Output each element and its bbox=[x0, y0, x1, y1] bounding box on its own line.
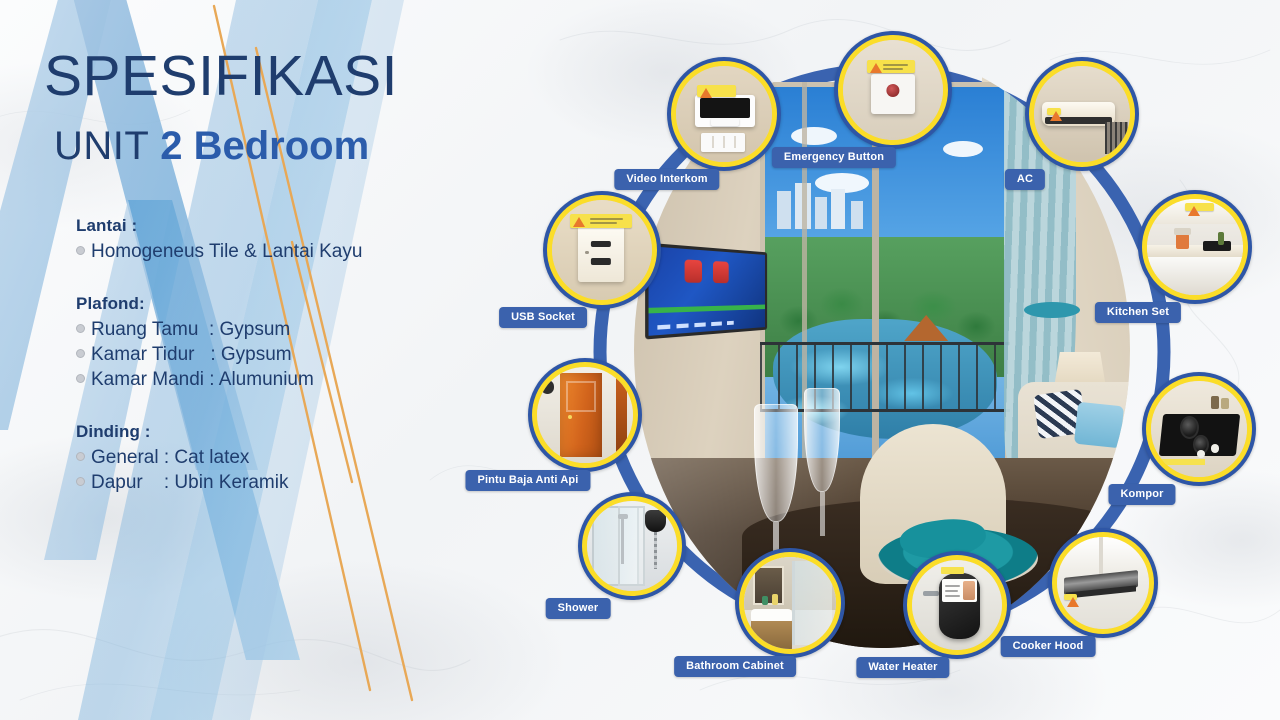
badge-circle[interactable] bbox=[1138, 190, 1252, 304]
wall-tv bbox=[645, 243, 767, 340]
badge-label: Water Heater bbox=[856, 657, 949, 678]
badge-photo bbox=[587, 501, 677, 591]
badge-label: USB Socket bbox=[499, 307, 587, 328]
bullet-icon bbox=[76, 452, 85, 461]
badge-label: Bathroom Cabinet bbox=[674, 656, 796, 677]
spec-row: Kamar Mandi : Alumunium bbox=[76, 367, 476, 392]
specification-list: Lantai : Homogeneus Tile & Lantai Kayu P… bbox=[76, 216, 476, 509]
spec-item-label: Dapur bbox=[91, 470, 164, 495]
badge-label: Pintu Baja Anti Api bbox=[465, 470, 590, 491]
spec-item-label: Kamar Tidur bbox=[91, 342, 210, 367]
page-title: SPESIFIKASI bbox=[44, 48, 398, 105]
badge-circle[interactable] bbox=[1142, 372, 1256, 486]
badge-circle[interactable] bbox=[903, 551, 1011, 659]
badge-circle[interactable] bbox=[1025, 57, 1139, 171]
spec-row: Ruang Tamu : Gypsum bbox=[76, 317, 476, 342]
badge-label: Video Interkom bbox=[614, 169, 719, 190]
spacer bbox=[76, 406, 476, 422]
spec-group-plafond: Plafond: Ruang Tamu : Gypsum Kamar Tidur… bbox=[76, 294, 476, 392]
badge-circle[interactable] bbox=[1048, 528, 1158, 638]
badge-circle[interactable] bbox=[528, 358, 642, 472]
left-content-panel: SPESIFIKASI UNIT 2 Bedroom Lantai : Homo… bbox=[0, 0, 520, 720]
spec-group-lantai: Lantai : Homogeneus Tile & Lantai Kayu bbox=[76, 216, 476, 264]
badge-photo bbox=[1034, 66, 1130, 162]
spec-item-value: : Alumunium bbox=[209, 367, 314, 392]
spec-heading: Dinding : bbox=[76, 422, 476, 442]
bullet-icon bbox=[76, 477, 85, 486]
badge-label: Kompor bbox=[1108, 484, 1175, 505]
badge-label: Kitchen Set bbox=[1095, 302, 1181, 323]
badge-label: Emergency Button bbox=[772, 147, 896, 168]
badge-circle[interactable] bbox=[834, 31, 952, 149]
spec-item-label: Homogeneus Tile & Lantai Kayu bbox=[91, 239, 362, 264]
bullet-icon bbox=[76, 324, 85, 333]
spec-item-value: : Cat latex bbox=[164, 445, 250, 470]
badge-photo bbox=[1057, 537, 1149, 629]
spec-item-value: : Ubin Keramik bbox=[164, 470, 289, 495]
spec-row: General : Cat latex bbox=[76, 445, 476, 470]
bullet-icon bbox=[76, 374, 85, 383]
spec-heading: Lantai : bbox=[76, 216, 476, 236]
badge-photo bbox=[912, 560, 1002, 650]
badge-photo bbox=[537, 367, 633, 463]
badge-circle[interactable] bbox=[543, 191, 661, 309]
badge-photo bbox=[1147, 199, 1243, 295]
spec-row: Dapur : Ubin Keramik bbox=[76, 470, 476, 495]
page-subtitle: UNIT 2 Bedroom bbox=[54, 126, 369, 166]
feature-diagram: Video Interkom bbox=[520, 0, 1280, 720]
badge-label: Cooker Hood bbox=[1001, 636, 1096, 657]
spec-item-value: : Gypsum bbox=[210, 342, 291, 367]
spec-item-label: General bbox=[91, 445, 164, 470]
badge-photo bbox=[676, 66, 772, 162]
badge-photo bbox=[744, 557, 836, 649]
spec-heading: Plafond: bbox=[76, 294, 476, 314]
badge-circle[interactable] bbox=[735, 548, 845, 658]
badge-photo bbox=[1151, 381, 1247, 477]
spec-group-dinding: Dinding : General : Cat latex Dapur : Ub… bbox=[76, 422, 476, 495]
badge-photo bbox=[552, 200, 652, 300]
slide-root: SPESIFIKASI UNIT 2 Bedroom Lantai : Homo… bbox=[0, 0, 1280, 720]
spec-item-label: Ruang Tamu bbox=[91, 317, 209, 342]
badge-label: AC bbox=[1005, 169, 1045, 190]
badge-circle[interactable] bbox=[667, 57, 781, 171]
subtitle-unit-prefix: UNIT bbox=[54, 124, 160, 168]
spec-row: Homogeneus Tile & Lantai Kayu bbox=[76, 239, 476, 264]
badge-photo bbox=[843, 40, 943, 140]
badge-label: Shower bbox=[546, 598, 611, 619]
spec-item-label: Kamar Mandi bbox=[91, 367, 209, 392]
spec-row: Kamar Tidur : Gypsum bbox=[76, 342, 476, 367]
bullet-icon bbox=[76, 246, 85, 255]
badge-circle[interactable] bbox=[578, 492, 686, 600]
spec-item-value: : Gypsum bbox=[209, 317, 290, 342]
subtitle-unit-type: 2 Bedroom bbox=[160, 124, 369, 168]
spacer bbox=[76, 278, 476, 294]
bullet-icon bbox=[76, 349, 85, 358]
